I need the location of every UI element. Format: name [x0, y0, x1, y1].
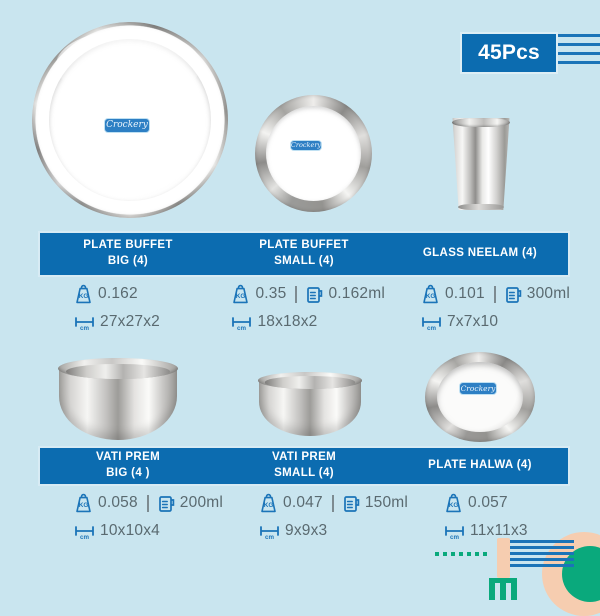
kg-weight-icon: KG: [421, 284, 440, 304]
glass-lip: [452, 118, 510, 127]
label-line-1: PLATE BUFFET: [259, 238, 349, 254]
spec-weight-value: 0.047: [283, 494, 323, 512]
brand-sticker-label: Crockery: [291, 142, 321, 149]
product-image-plate-halwa: [425, 352, 535, 442]
ml-jug-icon: [343, 494, 360, 513]
brand-sticker-label: Crockery: [106, 121, 148, 130]
brand-sticker-icon: Crockery: [104, 118, 150, 133]
spec-line-weight-volume: KG 0.101 300ml: [421, 283, 570, 305]
svg-text:cm: cm: [80, 534, 89, 540]
cm-ruler-icon: cm: [74, 314, 95, 331]
svg-text:cm: cm: [427, 325, 436, 331]
spec-col-plate-buffet-big: KG 0.162 cm 27x27x2: [38, 283, 195, 339]
spec-row-1: KG 0.162 cm 27x27x2 KG 0.35: [38, 283, 570, 339]
cm-ruler-icon: cm: [231, 314, 252, 331]
glass-base: [458, 204, 504, 210]
bowl-body: [259, 381, 361, 436]
label-line-2: BIG (4): [108, 254, 148, 270]
bowl-cavity: [66, 364, 169, 380]
label-cell-plate-halwa: PLATE HALWA (4): [392, 448, 568, 484]
spec-size-value: 9x9x3: [285, 522, 327, 540]
spec-col-plate-buffet-small: KG 0.35 0.162ml cm 18x18x2: [195, 283, 385, 339]
label-cell-vati-prem-small: VATI PREM SMALL (4): [216, 448, 392, 484]
spec-line-size: cm 9x9x3: [259, 520, 408, 542]
spec-size-value: 7x7x10: [447, 313, 498, 331]
spec-line-weight-volume: KG 0.047 150ml: [259, 492, 408, 514]
label-line-1: GLASS NEELAM (4): [423, 246, 537, 262]
peach-bar-shape: [497, 538, 510, 578]
kg-weight-icon: KG: [74, 493, 93, 513]
corner-decoration: [475, 508, 600, 600]
spec-divider: [332, 495, 334, 512]
ml-jug-icon: [158, 494, 175, 513]
spec-size-value: 10x10x4: [100, 522, 160, 540]
cm-ruler-icon: cm: [444, 523, 465, 540]
label-line-1: VATI PREM: [96, 450, 160, 466]
spec-weight-value: 0.058: [98, 494, 138, 512]
label-cell-vati-prem-big: VATI PREM BIG (4 ): [40, 448, 216, 484]
spec-col-vati-prem-big: KG 0.058 200ml cm 10x10x4: [38, 492, 223, 548]
brand-sticker-label: Crockery: [461, 385, 496, 393]
label-line-2: SMALL (4): [274, 466, 334, 482]
glass-body: [450, 118, 512, 210]
green-comb-shape: [489, 578, 517, 600]
spec-line-size: cm 18x18x2: [231, 311, 385, 333]
spec-divider: [147, 495, 149, 512]
pieces-count-label: 45Pcs: [478, 41, 540, 65]
ml-jug-icon: [505, 285, 522, 304]
product-image-vati-prem-big: [58, 358, 178, 440]
spec-line-weight-volume: KG 0.35 0.162ml: [231, 283, 385, 305]
svg-text:cm: cm: [265, 534, 274, 540]
svg-text:KG: KG: [264, 502, 274, 509]
label-bar-row-1: PLATE BUFFET BIG (4) PLATE BUFFET SMALL …: [38, 231, 570, 277]
svg-text:cm: cm: [80, 325, 89, 331]
badge-decor-lines: [556, 34, 600, 74]
label-line-2: SMALL (4): [274, 254, 334, 270]
label-line-1: VATI PREM: [272, 450, 336, 466]
plate-well: [266, 106, 362, 202]
brand-sticker-icon: Crockery: [290, 140, 322, 151]
ml-jug-icon: [306, 285, 323, 304]
kg-weight-icon: KG: [444, 493, 463, 513]
spec-col-vati-prem-small: KG 0.047 150ml cm 9x9x3: [223, 492, 408, 548]
green-dotted-line: [435, 552, 491, 556]
svg-text:cm: cm: [450, 534, 459, 540]
spec-volume-value: 0.162ml: [328, 285, 385, 303]
spec-divider: [494, 286, 496, 303]
kg-weight-icon: KG: [259, 493, 278, 513]
blue-stripe-lines: [500, 540, 574, 570]
spec-size-value: 27x27x2: [100, 313, 160, 331]
spec-volume-value: 200ml: [180, 494, 223, 512]
label-bar-row-2: VATI PREM BIG (4 ) VATI PREM SMALL (4) P…: [38, 446, 570, 486]
cm-ruler-icon: cm: [74, 523, 95, 540]
kg-weight-icon: KG: [231, 284, 250, 304]
spec-col-glass-neelam: KG 0.101 300ml cm 7x7x10: [385, 283, 570, 339]
kg-weight-icon: KG: [74, 284, 93, 304]
spec-size-value: 18x18x2: [257, 313, 317, 331]
spec-line-weight-volume: KG 0.162: [74, 283, 195, 305]
svg-text:KG: KG: [426, 293, 436, 300]
plate-well: [437, 362, 523, 432]
label-cell-plate-buffet-small: PLATE BUFFET SMALL (4): [216, 233, 392, 275]
spec-line-size: cm 10x10x4: [74, 520, 223, 542]
product-image-vati-prem-small: [258, 372, 362, 436]
spec-line-size: cm 27x27x2: [74, 311, 195, 333]
spec-weight-value: 0.101: [445, 285, 485, 303]
cm-ruler-icon: cm: [259, 523, 280, 540]
label-line-2: BIG (4 ): [106, 466, 150, 482]
svg-text:KG: KG: [449, 502, 459, 509]
label-line-1: PLATE HALWA (4): [428, 458, 532, 474]
cm-ruler-icon: cm: [421, 314, 442, 331]
spec-volume-value: 300ml: [527, 285, 570, 303]
spec-line-size: cm 7x7x10: [421, 311, 570, 333]
brand-sticker-icon: Crockery: [459, 382, 497, 395]
product-image-glass-neelam: [450, 118, 512, 210]
pieces-count-badge: 45Pcs: [460, 32, 558, 74]
svg-text:KG: KG: [79, 502, 89, 509]
spec-volume-value: 150ml: [365, 494, 408, 512]
product-image-plate-buffet-small: [255, 95, 372, 212]
spec-weight-value: 0.35: [255, 285, 286, 303]
label-cell-plate-buffet-big: PLATE BUFFET BIG (4): [40, 233, 216, 275]
bowl-body: [59, 369, 177, 440]
label-line-1: PLATE BUFFET: [83, 238, 173, 254]
label-cell-glass-neelam: GLASS NEELAM (4): [392, 233, 568, 275]
spec-weight-value: 0.162: [98, 285, 138, 303]
spec-divider: [295, 286, 297, 303]
spec-line-weight-volume: KG 0.058 200ml: [74, 492, 223, 514]
plate-gloss-highlight: [56, 30, 201, 101]
svg-text:cm: cm: [237, 325, 246, 331]
svg-text:KG: KG: [236, 293, 246, 300]
bowl-cavity: [265, 376, 354, 388]
svg-text:KG: KG: [79, 293, 89, 300]
